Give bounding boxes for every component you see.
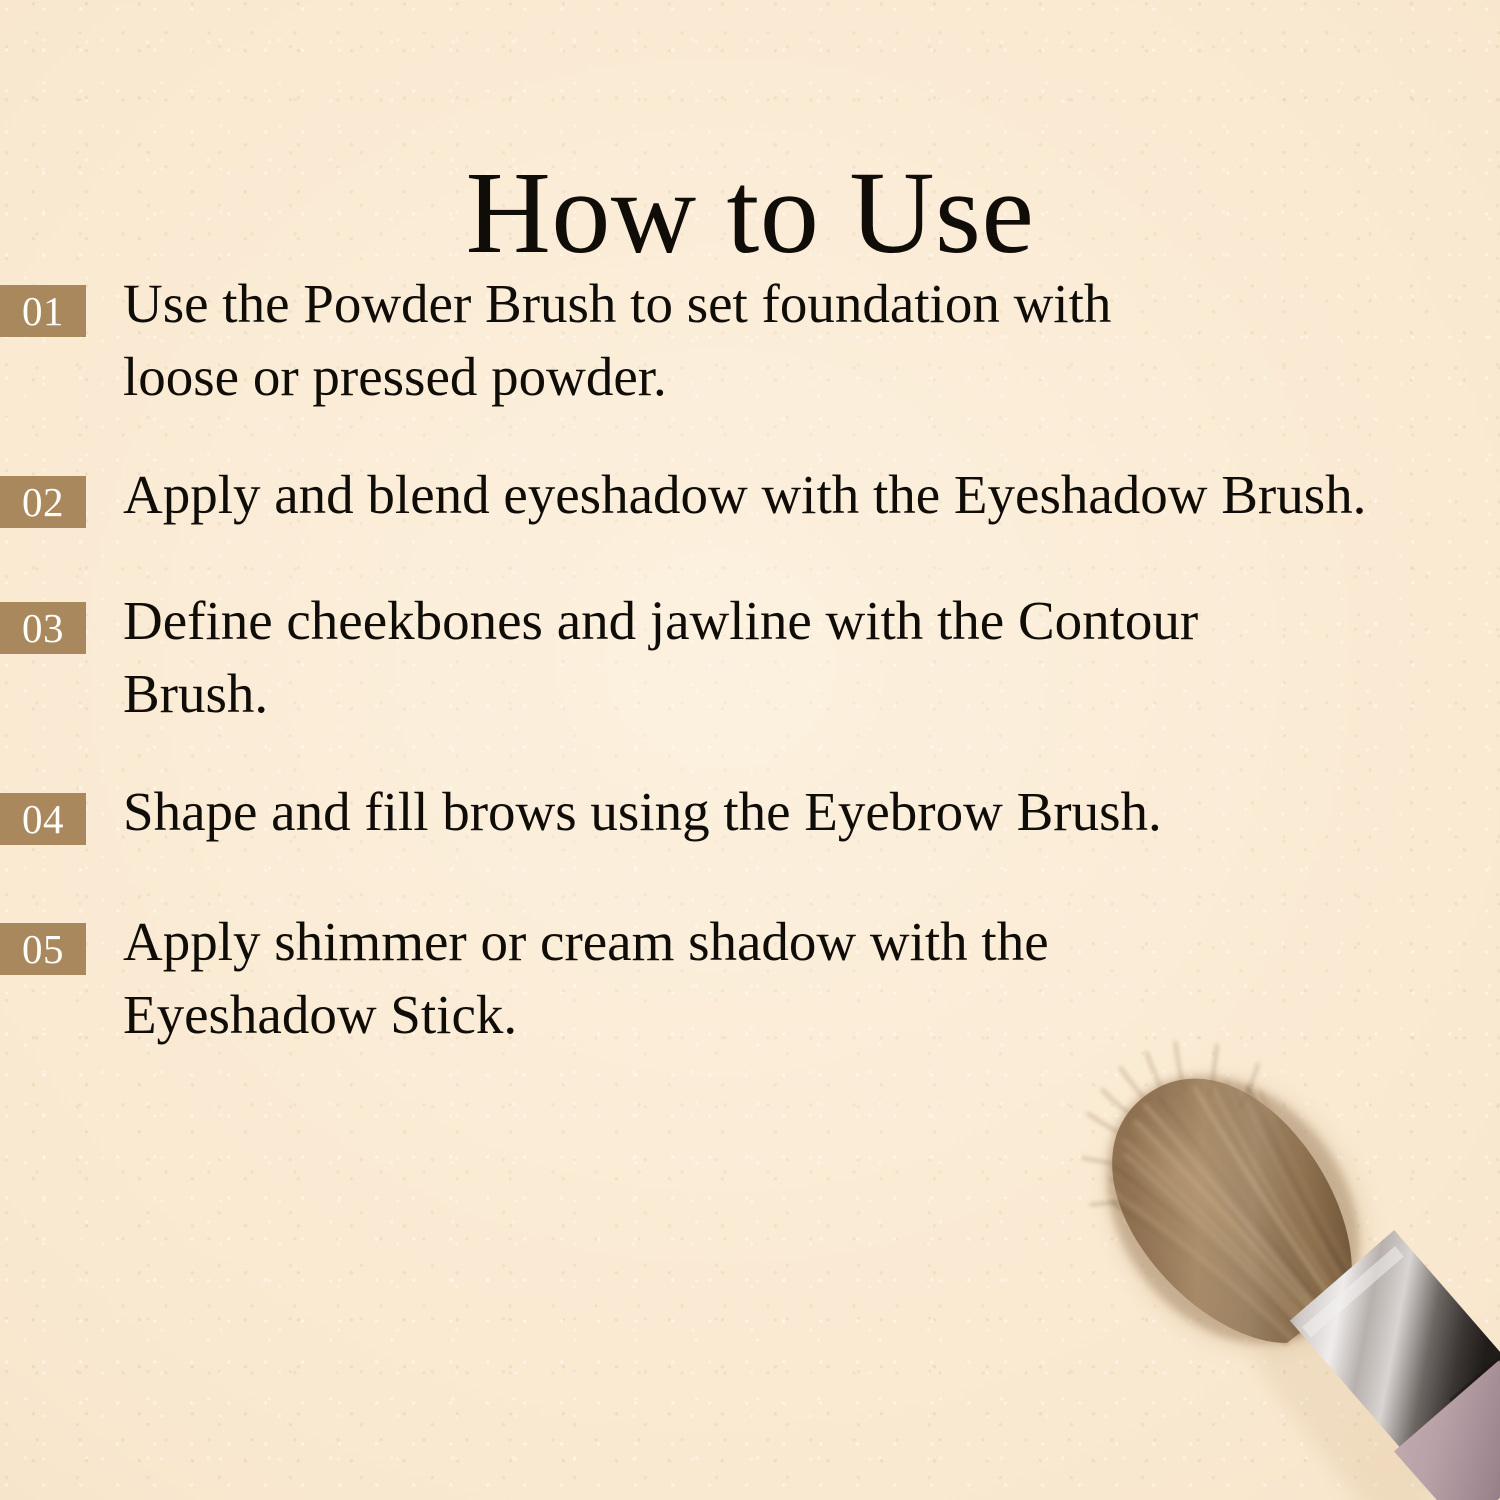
brush-ferrule	[1285, 1225, 1500, 1453]
step-number-badge-01: 01	[0, 285, 86, 337]
step-item-01: 01 Use the Powder Brush to set foundatio…	[0, 268, 1500, 413]
step-text-03: Define cheekbones and jawline with the C…	[123, 585, 1283, 730]
how-to-use-poster: How to Use 01 Use the Powder Brush to se…	[0, 0, 1500, 1500]
makeup-brush-illustration	[1048, 1010, 1500, 1500]
brush-handle	[1390, 1357, 1500, 1500]
step-item-03: 03 Define cheekbones and jawline with th…	[0, 585, 1500, 730]
steps-list: 01 Use the Powder Brush to set foundatio…	[0, 268, 1500, 1082]
step-text-02: Apply and blend eyeshadow with the Eyesh…	[123, 459, 1500, 532]
step-number-badge-04: 04	[0, 793, 86, 845]
step-text-04: Shape and fill brows using the Eyebrow B…	[123, 776, 1500, 849]
step-number-badge-05: 05	[0, 923, 86, 975]
page-title: How to Use	[0, 151, 1500, 275]
step-text-05: Apply shimmer or cream shadow with the E…	[123, 906, 1223, 1051]
step-text-01: Use the Powder Brush to set foundation w…	[123, 268, 1278, 413]
makeup-brush-image	[1048, 1010, 1500, 1500]
step-item-02: 02 Apply and blend eyeshadow with the Ey…	[0, 459, 1500, 537]
step-number-badge-03: 03	[0, 602, 86, 654]
step-item-05: 05 Apply shimmer or cream shadow with th…	[0, 906, 1500, 1051]
step-item-04: 04 Shape and fill brows using the Eyebro…	[0, 776, 1500, 854]
step-number-badge-02: 02	[0, 476, 86, 528]
brush-shadow	[1050, 1022, 1500, 1500]
